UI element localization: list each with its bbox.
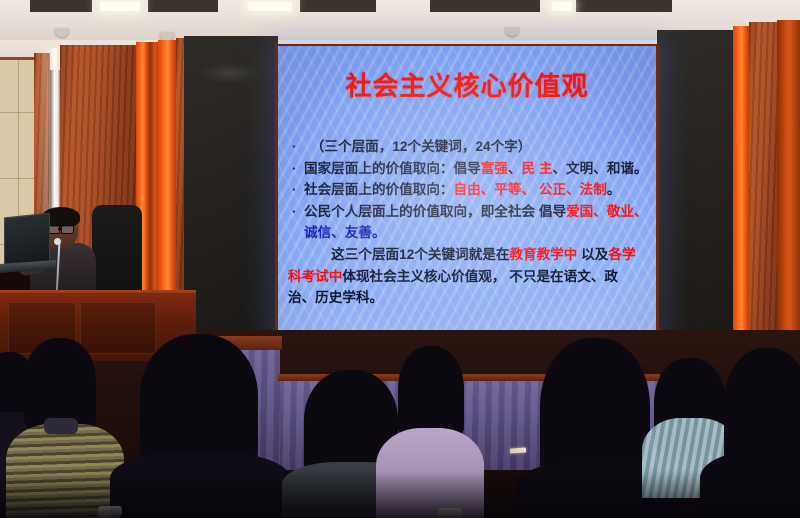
slide-text: 治、历史学科。 [288, 290, 383, 305]
glasses-bridge [58, 228, 61, 230]
slide-line: · （三个层面，12个关键词，24个字） [284, 136, 652, 158]
slide-text: 这三个层面12个关键词就是在 [304, 247, 509, 262]
slide-text: 公民个人层面上的价值取向，即全社会 倡导 [304, 204, 566, 219]
slide-text-highlight: 教育教学中 [509, 247, 577, 262]
slide-text: 、文明、和谐。 [552, 161, 647, 176]
slide-text-highlight: 富强 [481, 161, 508, 176]
slide-text-highlight: 爱国、敬业、 [566, 204, 648, 219]
ceiling-beam-3 [300, 0, 376, 12]
slide-text-highlight: 科考试中 [288, 269, 342, 284]
slide-line: · 国家层面上的价值取向：倡导富强、民 主、文明、和谐。 [284, 158, 652, 180]
bullet-icon: · [292, 179, 296, 201]
ceiling-light-3 [552, 2, 572, 11]
slide-text: 国家层面上的价值取向：倡导 [304, 161, 481, 176]
slide-text-highlight: 自由、平等、 公正、法制 [454, 182, 607, 197]
audience-neck [44, 418, 78, 434]
stage-backdrop-right [657, 30, 735, 352]
slide-line: 治、历史学科。 [284, 287, 652, 309]
slide-line: · 社会层面上的价值取向：自由、平等、 公正、法制。 [284, 179, 652, 201]
slide-line: 诚信、友善。 [284, 222, 652, 244]
backdrop-highlight [198, 62, 262, 84]
slide-text: 。 [607, 182, 621, 197]
slide-line: · 公民个人层面上的价值取向，即全社会 倡导爱国、敬业、 [284, 201, 652, 223]
bottom-shadow [0, 470, 800, 518]
audience-head [24, 338, 96, 430]
glasses-icon [61, 225, 74, 234]
orange-pillar-3 [158, 40, 178, 302]
slide-text-highlight: 各学 [608, 247, 635, 262]
slide-line: 科考试中体现社会主义核心价值观， 不只是在语文、政 [284, 266, 652, 288]
wood-panel-right [749, 22, 779, 358]
lecture-hall-photo: 社会主义核心价值观 · （三个层面，12个关键词，24个字） · 国家层面上的价… [0, 0, 800, 518]
ceiling-beam-5 [576, 0, 672, 12]
ceiling-beam-1 [30, 0, 92, 12]
projection-screen[interactable]: 社会主义核心价值观 · （三个层面，12个关键词，24个字） · 国家层面上的价… [278, 46, 656, 377]
chair [92, 205, 142, 295]
slide-body: · （三个层面，12个关键词，24个字） · 国家层面上的价值取向：倡导富强、民… [284, 136, 652, 309]
audience-head [140, 334, 258, 468]
slide-text: 以及 [577, 247, 608, 262]
ceiling-light-1 [100, 2, 140, 11]
slide-line: 这三个层面12个关键词就是在教育教学中 以及各学 [284, 244, 652, 266]
slide-text: （三个层面，12个关键词，24个字） [304, 139, 531, 154]
microphone-icon [54, 238, 61, 245]
bullet-icon: · [292, 201, 296, 223]
bullet-icon: · [292, 136, 296, 158]
slide-title: 社会主义核心价值观 [278, 66, 656, 103]
bullet-icon: · [292, 158, 296, 180]
slide-text: 社会层面上的价值取向： [304, 182, 454, 197]
audience-head [398, 346, 464, 438]
orange-pillar-right-2 [777, 20, 800, 360]
ceiling-light-2 [248, 2, 292, 11]
lectern-panel-2 [80, 302, 156, 354]
slide-text-highlight: 民 主 [522, 161, 553, 176]
slide-text: 、 [508, 161, 522, 176]
slide-content: 社会主义核心价值观 · （三个层面，12个关键词，24个字） · 国家层面上的价… [278, 46, 656, 377]
slide-text: 体现社会主义核心价值观， 不只是在语文、政 [342, 269, 618, 284]
ceiling-beam-4 [430, 0, 540, 12]
ceiling-beam-2 [148, 0, 218, 12]
slide-text-highlight: 诚信、友善。 [304, 225, 386, 240]
